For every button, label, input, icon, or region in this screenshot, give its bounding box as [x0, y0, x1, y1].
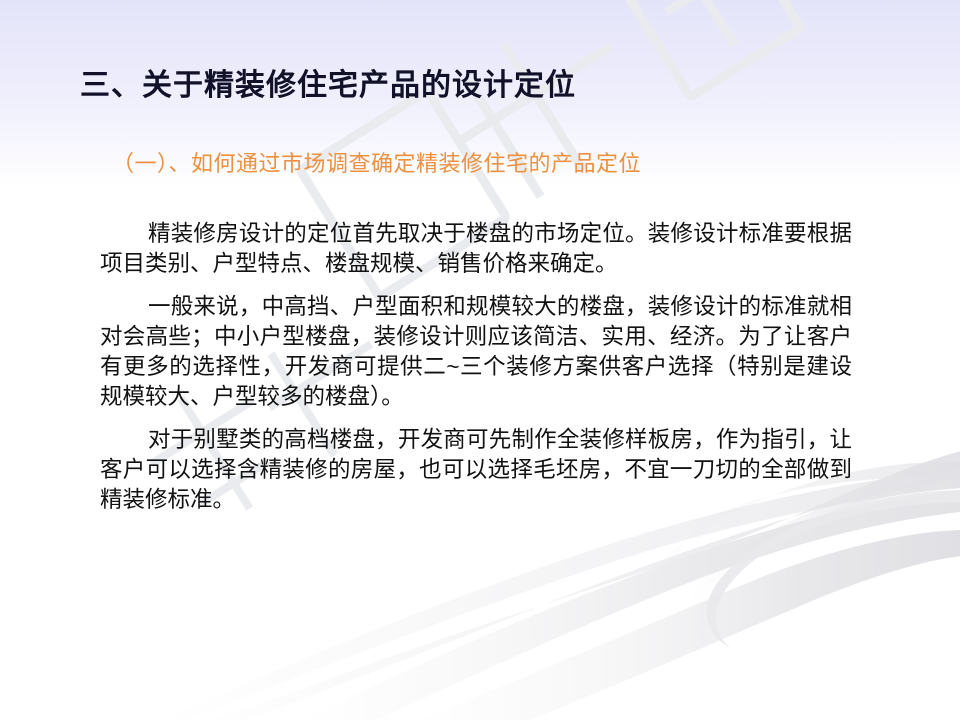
slide-canvas: 三、关于精装修住宅产品的设计定位 （一）、如何通过市场调查确定精装修住宅的产品定… [0, 0, 960, 720]
section-subtitle: （一）、如何通过市场调查确定精装修住宅的产品定位 [112, 150, 641, 178]
body-paragraph-2: 一般来说，中高挡、户型面积和规模较大的楼盘，装修设计的标准就相对会高些；中小户型… [100, 292, 852, 412]
slide-content: 三、关于精装修住宅产品的设计定位 （一）、如何通过市场调查确定精装修住宅的产品定… [0, 0, 960, 720]
body-text-block: 精装修房设计的定位首先取决于楼盘的市场定位。装修设计标准要根据项目类别、户型特点… [100, 219, 852, 515]
page-title: 三、关于精装修住宅产品的设计定位 [80, 68, 576, 104]
body-paragraph-1: 精装修房设计的定位首先取决于楼盘的市场定位。装修设计标准要根据项目类别、户型特点… [100, 219, 852, 279]
body-paragraph-3: 对于别墅类的高档楼盘，开发商可先制作全装修样板房，作为指引，让客户可以选择含精装… [100, 425, 852, 515]
